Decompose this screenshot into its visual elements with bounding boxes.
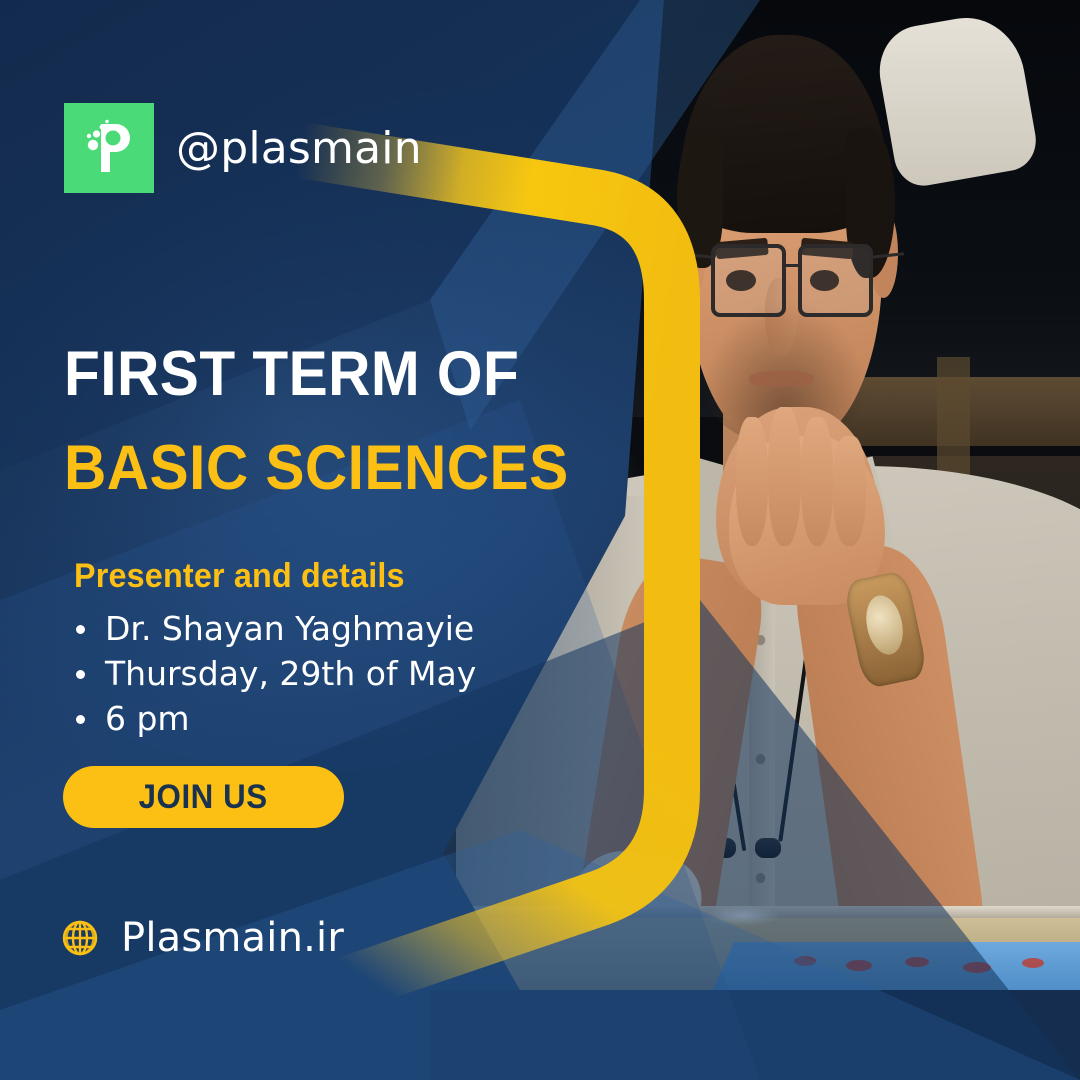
details-list: Dr. Shayan Yaghmayie Thursday, 29th of M… xyxy=(74,606,544,741)
details-block: Presenter and details Dr. Shayan Yaghmay… xyxy=(74,556,544,741)
plasmain-p-logo-icon xyxy=(82,118,136,178)
headline: FIRST TERM OF BASIC SCIENCES xyxy=(64,341,584,501)
list-item: Dr. Shayan Yaghmayie xyxy=(74,606,544,651)
details-title: Presenter and details xyxy=(74,556,521,596)
globe-icon xyxy=(58,916,102,960)
headline-line-1: FIRST TERM OF xyxy=(64,341,548,407)
website-footer[interactable]: Plasmain.ir xyxy=(58,915,344,961)
headline-line-2: BASIC SCIENCES xyxy=(64,435,548,501)
website-label: Plasmain.ir xyxy=(121,915,344,961)
list-item: Thursday, 29th of May xyxy=(74,651,544,696)
join-us-button[interactable]: JOIN US xyxy=(63,766,344,828)
promo-poster: @plasmain FIRST TERM OF BASIC SCIENCES P… xyxy=(0,0,1080,1080)
list-item: 6 pm xyxy=(74,696,544,741)
plasmain-logo-tile[interactable] xyxy=(64,103,154,193)
brand-header: @plasmain xyxy=(64,103,422,193)
brand-handle: @plasmain xyxy=(176,123,422,174)
join-us-label: JOIN US xyxy=(139,778,268,817)
